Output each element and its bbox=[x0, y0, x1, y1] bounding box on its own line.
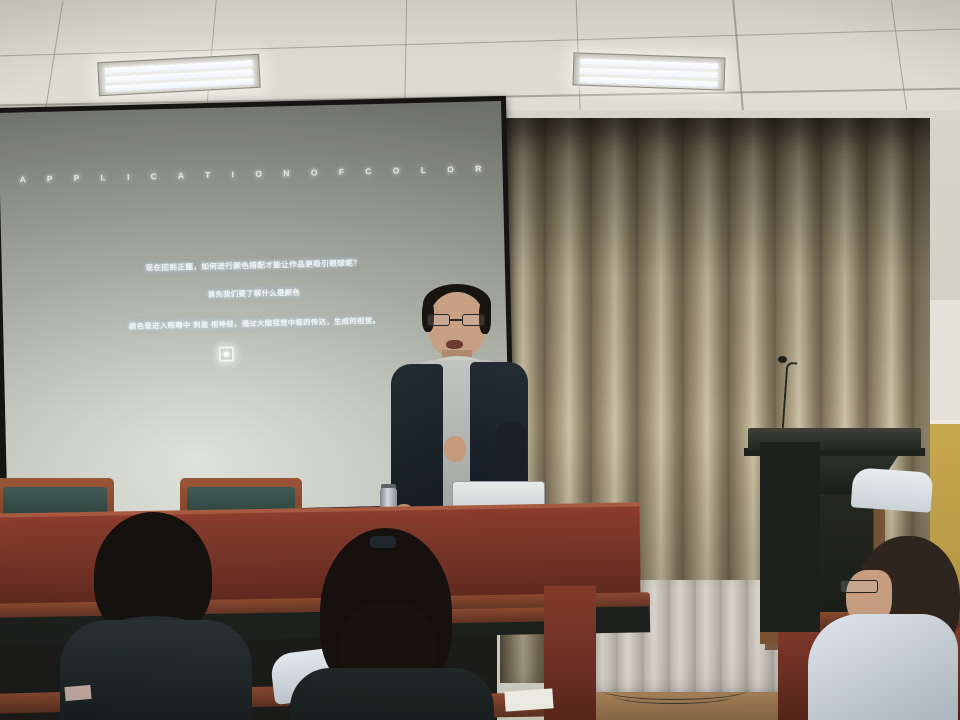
floor-cable bbox=[614, 688, 734, 704]
ceiling-grid-line bbox=[0, 29, 960, 57]
audience-torso bbox=[60, 620, 252, 720]
small-object bbox=[64, 685, 91, 701]
audience-glasses-icon bbox=[840, 580, 878, 593]
play-stop-icon[interactable] bbox=[219, 346, 234, 361]
audience-torso bbox=[808, 614, 958, 720]
audience-member-right bbox=[808, 536, 960, 720]
hair-clip bbox=[370, 536, 396, 548]
audience-torso bbox=[290, 668, 494, 720]
audience-member-center bbox=[268, 528, 504, 720]
slide-line-1: 现在回到正题，如何进行颜色搭配才能让作品更吸引眼球呢？ bbox=[2, 249, 505, 282]
presenter-glasses-icon bbox=[426, 314, 488, 326]
ceiling-light-panel-right bbox=[572, 52, 725, 90]
draped-garment-right bbox=[851, 467, 934, 512]
lecture-hall-scene: A P P L I C A T I O N O F C O L O R 现在回到… bbox=[0, 0, 960, 720]
light-tube bbox=[580, 77, 718, 88]
microphone-head-icon bbox=[778, 356, 787, 363]
ceiling-light-panel-left bbox=[97, 54, 261, 96]
presenter-mouth bbox=[446, 340, 463, 349]
paper-sheet bbox=[504, 688, 553, 711]
presenter-hand-gesture bbox=[444, 436, 466, 462]
slide-heading: A P P L I C A T I O N O F C O L O R bbox=[20, 164, 465, 184]
